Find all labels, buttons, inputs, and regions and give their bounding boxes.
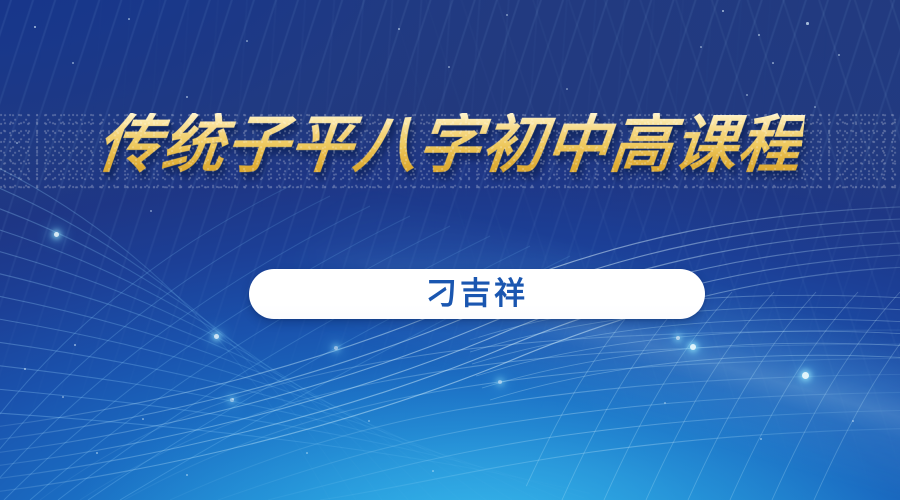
- star-particle-field: [0, 0, 900, 500]
- instructor-name-label: 刁吉祥: [426, 279, 528, 310]
- course-promo-banner: 传统子平八字初中高课程 刁吉祥: [0, 0, 900, 500]
- banner-title-container: 传统子平八字初中高课程: [0, 113, 900, 176]
- banner-title: 传统子平八字初中高课程: [95, 113, 806, 176]
- instructor-name-pill[interactable]: 刁吉祥: [249, 269, 705, 319]
